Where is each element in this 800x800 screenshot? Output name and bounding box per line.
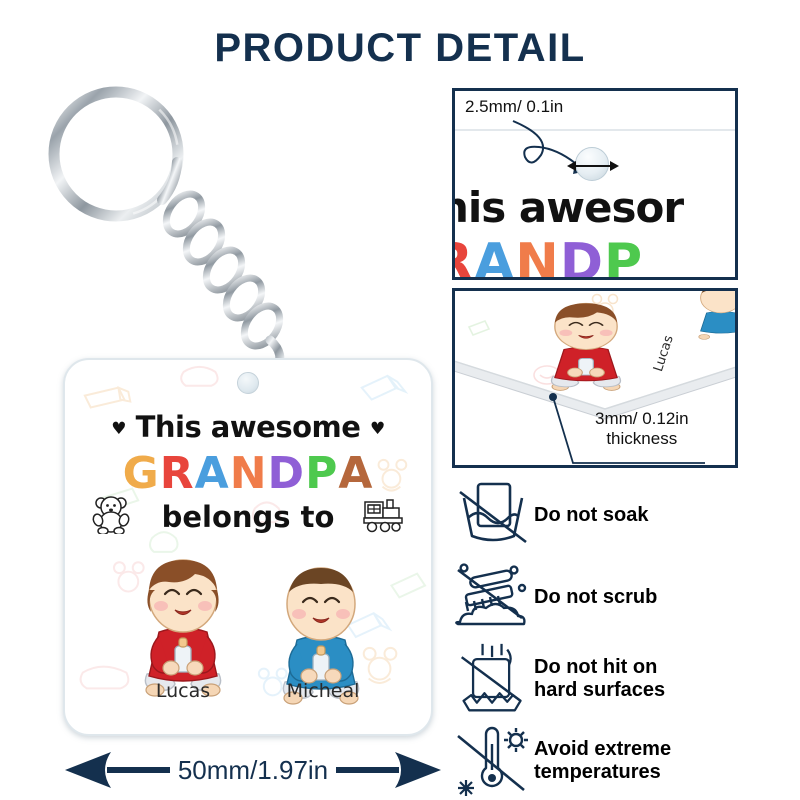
grandpa-letter-6: A [338,448,373,499]
product-detail-page: PRODUCT DETAIL [0,0,800,800]
care-label-no-hit: Do not hit on hard surfaces [534,656,665,702]
no-scrub-icon [452,560,534,634]
care-label-avoid-temp-l1: Avoid extreme [534,738,671,760]
width-dimension-label-wrap: 50mm/1.97in [63,748,443,792]
thickness-character-lucas [531,297,641,393]
zoom-grandpa-letter-0: R [452,233,474,280]
keychain-product-photo: ♥ This awesome ♥ GRANDPA belongs to [18,70,438,730]
grandpa-letter-5: P [305,448,338,499]
care-row-no-soak: Do not soak [452,478,782,552]
care-label-no-hit-l2: hard surfaces [534,679,665,701]
care-label-no-scrub: Do not scrub [534,586,657,609]
care-label-no-soak: Do not soak [534,504,648,527]
zoom-grandpa-letter-2: N [515,233,560,280]
zoom-grandpa-letter-1: A [474,233,515,280]
zoom-grandpa-letter-3: D [560,233,604,280]
no-hit-hard-surface-icon [452,642,534,716]
care-label-avoid-temp: Avoid extreme temperatures [534,738,671,784]
care-row-no-scrub: Do not scrub [452,560,782,634]
toy-train-icon [363,496,409,534]
thickness-dimension-label: 3mm/ 0.12in thickness [595,409,689,449]
width-dimension-label: 50mm/1.97in [170,755,336,786]
avoid-extreme-temperature-icon [452,724,534,798]
thickness-character-micheal-partial [685,288,738,341]
tag-line-1-text: This awesome [136,410,361,444]
care-label-avoid-temp-l2: temperatures [534,761,661,783]
no-soak-icon [452,478,534,552]
care-row-avoid-temp: Avoid extreme temperatures [452,724,782,798]
grandpa-letter-3: N [230,448,268,499]
heart-icon-right: ♥ [370,419,385,439]
panel-thickness-detail: Lucas 3mm/ 0.12in thickness [452,288,738,468]
thickness-dimension-line1: 3mm/ 0.12in [595,409,689,429]
zoom-text-grandpa-letters: RANDP [452,233,643,280]
care-label-no-hit-l1: Do not hit on [534,656,657,678]
zoom-grandpa-letter-4: P [604,233,643,280]
character-name-micheal: Micheal [253,680,393,702]
hole-width-arrow [565,159,621,173]
panel-hole-detail: 2.5mm/ 0.1in his awesor RANDP [452,88,738,280]
page-title: PRODUCT DETAIL [0,26,800,71]
grandpa-letter-2: A [195,448,230,499]
grandpa-letter-4: D [268,448,306,499]
teddy-bear-icon [92,492,132,534]
zoom-text-awesome: his awesor [452,183,683,232]
character-lucas [123,550,243,700]
care-row-no-hit: Do not hit on hard surfaces [452,642,782,716]
keychain-tag: ♥ This awesome ♥ GRANDPA belongs to [63,358,433,736]
tag-line-1: ♥ This awesome ♥ [65,410,431,444]
care-instructions-list: Do not soak Do not scrub [452,478,782,800]
width-dimension: 50mm/1.97in [63,748,443,792]
character-name-lucas: Lucas [113,680,253,702]
grandpa-letter-1: R [160,448,195,499]
heart-icon-left: ♥ [111,419,126,439]
thickness-dimension-line2: thickness [595,429,689,449]
